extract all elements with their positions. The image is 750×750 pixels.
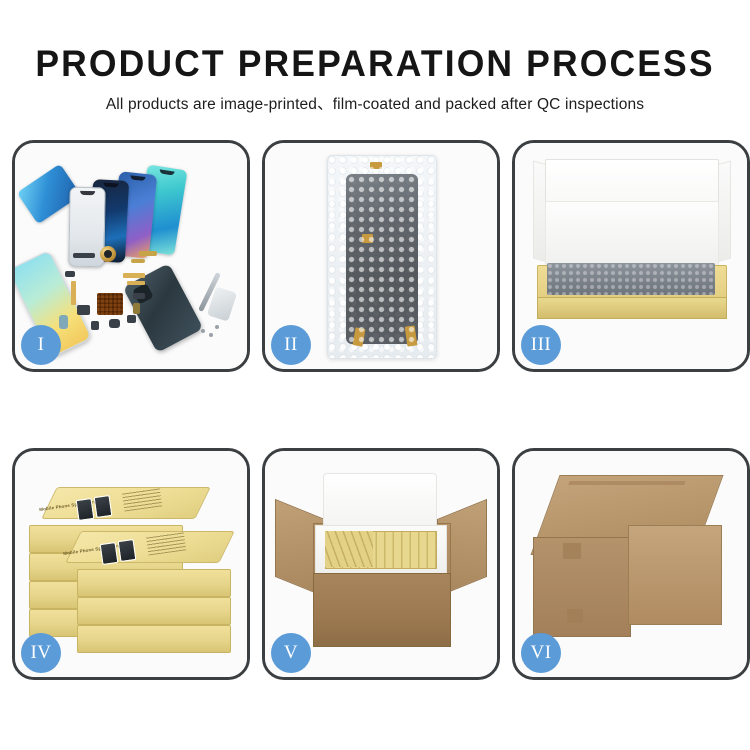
screw-icon (209, 333, 213, 337)
yellow-box-front-face (537, 297, 727, 319)
component-icon (77, 305, 90, 315)
tape-patch-icon (567, 609, 583, 623)
bubble-wrap-bag-icon (327, 155, 437, 359)
process-step-1: I (12, 140, 250, 372)
process-step-4: Mobile Phone Spare Parts Mobile Phone Sp… (12, 448, 250, 680)
component-icon (73, 253, 95, 258)
carton-front-wall (313, 573, 451, 647)
process-step-2: II (262, 140, 500, 372)
box-stack-icon: Mobile Phone Spare Parts Mobile Phone Sp… (25, 473, 237, 661)
component-icon (91, 321, 99, 330)
notch-icon (80, 191, 95, 195)
box-product-photo (118, 539, 137, 562)
notch-icon (130, 175, 145, 180)
notch-icon (103, 183, 118, 187)
process-step-3: III (512, 140, 750, 372)
stacked-box (77, 597, 231, 625)
step-badge-3: III (521, 325, 561, 365)
flex-cable-icon (123, 273, 145, 278)
box-product-photo (94, 495, 113, 518)
box-product-photo (76, 498, 95, 521)
process-step-5: V (262, 448, 500, 680)
flex-cable-icon (139, 251, 157, 256)
screw-icon (215, 325, 219, 329)
page-subtitle: All products are image-printed、film-coat… (0, 84, 750, 114)
step-badge-2: II (271, 325, 311, 365)
carton-top-seam (568, 481, 685, 485)
product-preparation-infographic: PRODUCT PREPARATION PROCESS All products… (0, 0, 750, 750)
component-icon (65, 271, 75, 277)
step-badge-1: I (21, 325, 61, 365)
box-product-photo (100, 542, 119, 565)
step-badge-4: IV (21, 633, 61, 673)
screw-icon (201, 329, 205, 333)
flex-cable-icon (131, 259, 145, 263)
tape-patch-icon (563, 543, 581, 559)
component-icon (127, 315, 136, 323)
component-icon (133, 293, 145, 299)
notch-icon (159, 169, 174, 175)
bubble-wrap-contents-icon (547, 263, 715, 295)
sim-tray-icon (133, 303, 140, 314)
packed-yellow-boxes (325, 531, 373, 567)
component-icon (109, 319, 120, 328)
logic-board-icon (97, 293, 123, 315)
speaker-module-icon (100, 246, 116, 262)
step-badge-6: VI (521, 633, 561, 673)
foam-insert-icon (545, 201, 719, 267)
stacked-box (77, 625, 231, 653)
page-title: PRODUCT PREPARATION PROCESS (15, 0, 735, 84)
step-badge-5: V (271, 633, 311, 673)
flex-cable-icon (71, 281, 76, 305)
bubble-texture-overlay (328, 156, 436, 358)
carton-right-face (628, 525, 722, 625)
flex-cable-icon (127, 281, 145, 285)
process-step-grid: I II (12, 140, 740, 690)
battery-connector-icon (59, 315, 68, 329)
process-step-6: VI (512, 448, 750, 680)
stacked-box (77, 569, 231, 597)
header: PRODUCT PREPARATION PROCESS All products… (0, 0, 750, 114)
